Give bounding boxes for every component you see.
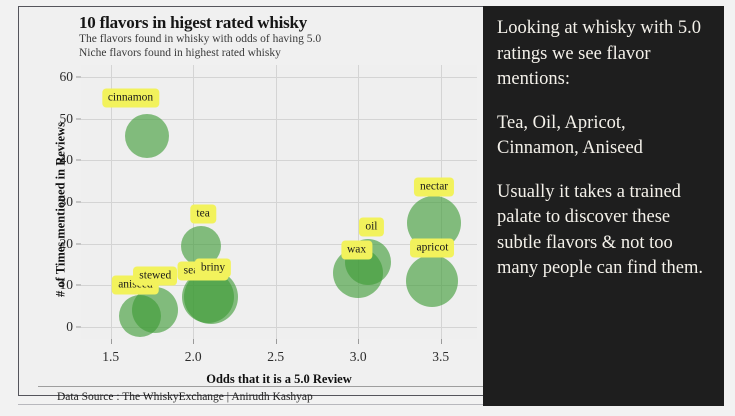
x-gridline <box>276 65 277 339</box>
x-tick-mark <box>358 339 359 344</box>
plot-wrapper: 01020304050601.52.02.53.03.5cinnamonanis… <box>19 7 482 395</box>
y-tick-mark <box>76 202 81 203</box>
x-tick-mark <box>193 339 194 344</box>
data-source-caption: Data Source : The WhiskyExchange | Aniru… <box>57 391 313 403</box>
commentary-paragraph-2: Tea, Oil, Apricot, Cinnamon, Aniseed <box>497 111 710 162</box>
y-gridline <box>81 160 477 161</box>
x-axis-label: Odds that it is a 5.0 Review <box>81 372 477 387</box>
y-tick-mark <box>76 77 81 78</box>
chart-panel: 10 flavors in higest rated whisky The fl… <box>19 7 482 395</box>
x-tick-label: 3.5 <box>432 349 449 365</box>
x-tick-label: 2.0 <box>185 349 202 365</box>
y-axis-label: # of Times mentioned in Reviews <box>54 80 69 340</box>
whisky-flavor-infographic: 10 flavors in higest rated whisky The fl… <box>0 0 735 416</box>
bubble-label: apricot <box>410 238 454 257</box>
commentary-paragraph-1: Looking at whisky with 5.0 ratings we se… <box>497 16 710 93</box>
footer-divider <box>38 386 501 387</box>
y-tick-mark <box>76 285 81 286</box>
x-gridline <box>358 65 359 339</box>
scatter-bubble[interactable] <box>125 114 169 158</box>
y-tick-mark <box>76 118 81 119</box>
bubble-label: wax <box>341 240 372 259</box>
y-gridline <box>81 77 477 78</box>
y-tick-mark <box>76 243 81 244</box>
scatter-plot-area: 01020304050601.52.02.53.03.5cinnamonanis… <box>81 65 477 339</box>
commentary-paragraph-3: Usually it takes a trained palate to dis… <box>497 180 710 282</box>
x-tick-mark <box>111 339 112 344</box>
x-tick-label: 3.0 <box>350 349 367 365</box>
y-tick-mark <box>76 326 81 327</box>
bubble-label: briny <box>195 258 231 277</box>
bubble-label: stewed <box>133 266 177 285</box>
scatter-bubble[interactable] <box>406 255 458 307</box>
bubble-label: tea <box>190 205 215 224</box>
x-tick-mark <box>276 339 277 344</box>
x-tick-mark <box>441 339 442 344</box>
bubble-label: nectar <box>414 178 454 197</box>
x-tick-label: 2.5 <box>267 349 284 365</box>
commentary-panel: Looking at whisky with 5.0 ratings we se… <box>483 6 724 406</box>
x-tick-label: 1.5 <box>102 349 119 365</box>
y-tick-mark <box>76 160 81 161</box>
bubble-label: cinnamon <box>102 89 159 108</box>
bubble-label: oil <box>359 217 383 236</box>
